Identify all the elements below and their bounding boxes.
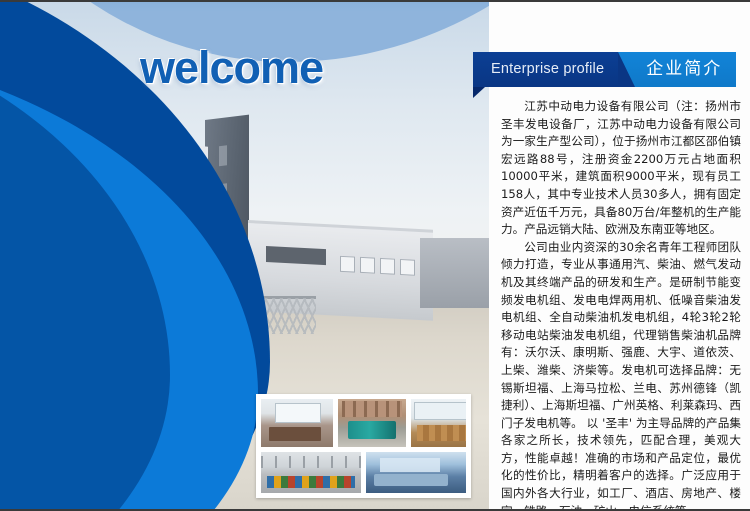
generator-workshop-photo <box>337 398 407 448</box>
enterprise-profile-panel: Enterprise profile 企业简介 江苏中动电力设备有限公司（注：扬… <box>489 2 750 509</box>
profile-body-text: 江苏中动电力设备有限公司（注：扬州市圣丰发电设备厂，江苏中动电力设备有限公司为一… <box>501 98 741 511</box>
workshop-window <box>400 259 415 276</box>
far-building <box>420 238 489 308</box>
workshop-window <box>340 256 355 273</box>
banner-english-label: Enterprise profile <box>473 52 618 87</box>
collage-bottom-row <box>260 451 467 494</box>
company-photo-panel: 中动电力 江苏中动电力设备有限公司 Jiangsu Zhongdong Powe… <box>0 2 489 509</box>
wing-window-slit <box>219 145 227 166</box>
workshop-dark-window <box>266 246 326 265</box>
section-banner: Enterprise profile 企业简介 <box>473 52 736 87</box>
workshop-window <box>360 257 375 274</box>
page-root: 中动电力 江苏中动电力设备有限公司 Jiangsu Zhongdong Powe… <box>0 0 750 511</box>
collage-top-row <box>260 398 467 448</box>
conference-room-photo <box>365 451 467 494</box>
assembly-workshop-photo <box>260 451 362 494</box>
profile-paragraph-2: 公司由业内资深的30余名青年工程师团队倾力打造，专业从事通用汽、柴油、燃气发动机… <box>501 239 741 511</box>
showroom-lobby-photo <box>410 398 467 448</box>
photo-collage <box>256 394 471 498</box>
workshop-window <box>380 258 395 275</box>
profile-paragraph-1: 江苏中动电力设备有限公司（注：扬州市圣丰发电设备厂，江苏中动电力设备有限公司为一… <box>501 98 741 239</box>
banner-chinese-label: 企业简介 <box>618 52 736 87</box>
banner-fold-tail <box>473 87 485 98</box>
welcome-heading: welcome <box>140 42 323 94</box>
office-meeting-photo <box>260 398 334 448</box>
